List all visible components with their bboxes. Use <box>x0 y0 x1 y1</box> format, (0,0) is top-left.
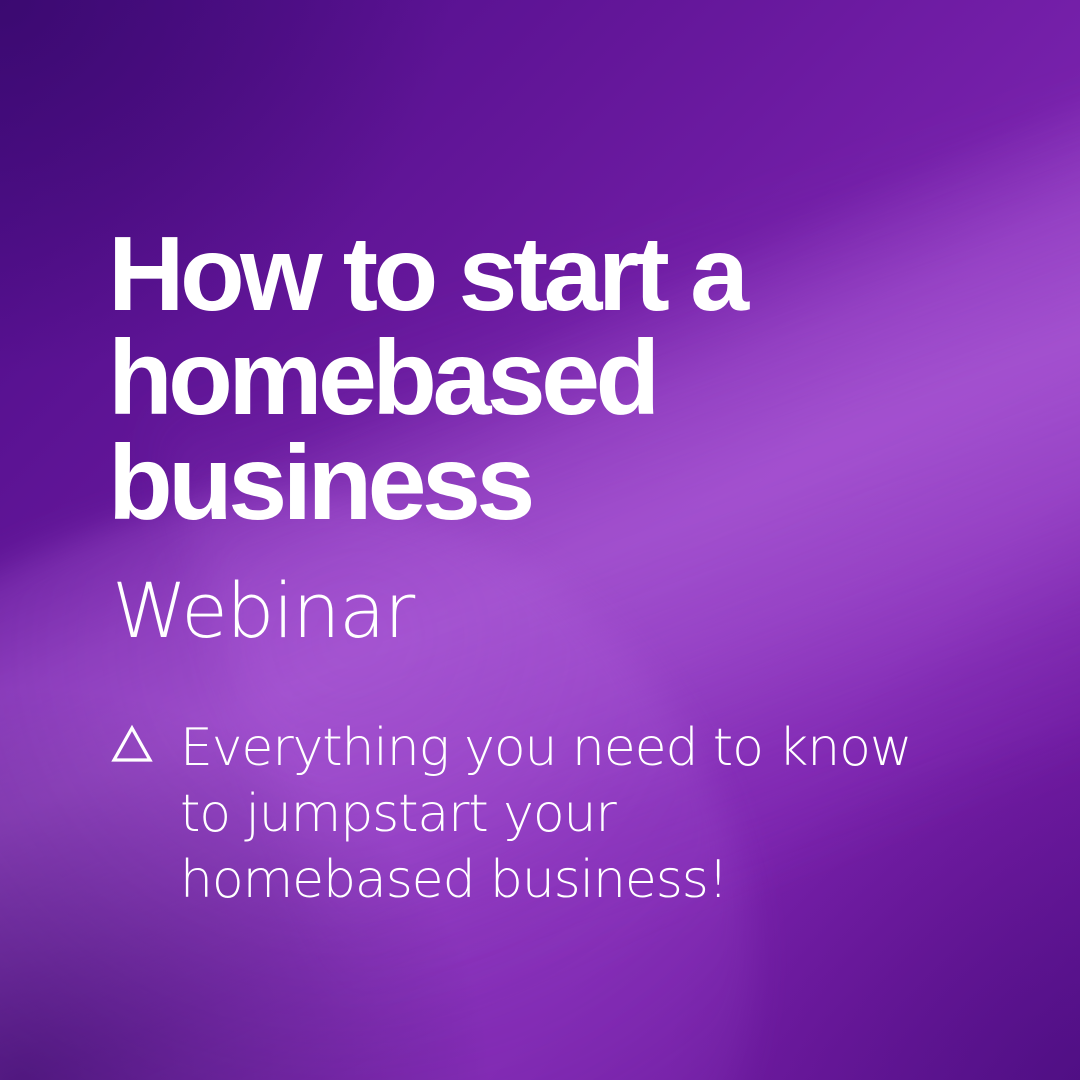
poster-content: How to start a homebased business Webina… <box>0 0 1080 1080</box>
webinar-promo-poster: How to start a homebased business Webina… <box>0 0 1080 1080</box>
subtitle: Webinar <box>112 573 414 649</box>
page-title: How to start a homebased business <box>108 222 868 535</box>
bullet-description: Everything you need to know to jumpstart… <box>162 716 920 913</box>
bullet-point: Everything you need to know to jumpstart… <box>110 716 970 913</box>
triangle-outline-icon <box>110 724 162 764</box>
